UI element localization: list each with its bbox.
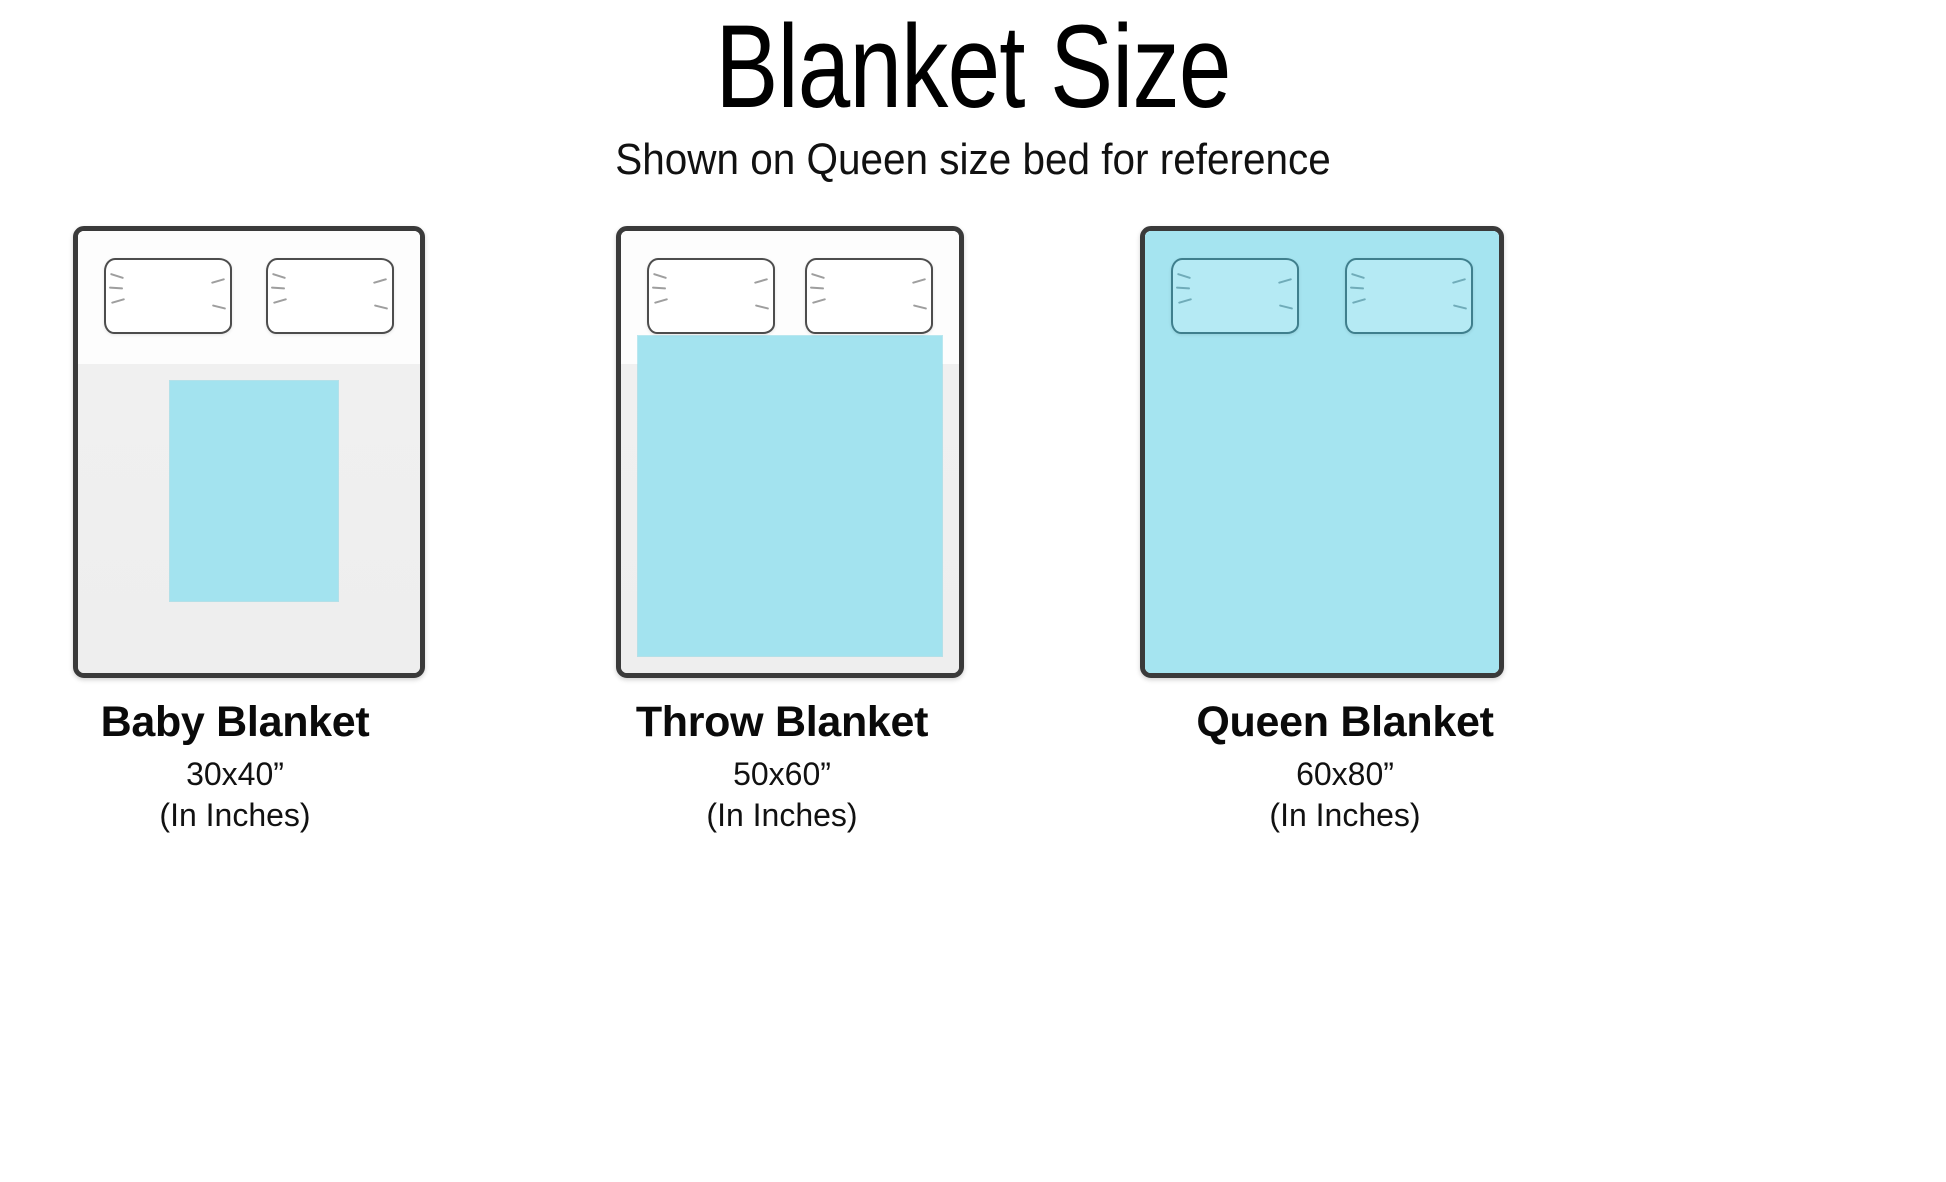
blanket-unit-throw: (In Inches) <box>522 795 1042 836</box>
pillow-right-icon <box>1345 258 1473 334</box>
pillow-left-icon <box>1171 258 1299 334</box>
blanket-size-baby: 30x40” <box>0 754 495 795</box>
label-group-baby: Baby Blanket 30x40” (In Inches) <box>0 700 495 836</box>
bed-diagrams-row <box>0 222 1946 702</box>
blanket-name-throw: Throw Blanket <box>522 700 1042 745</box>
bed-frame <box>616 226 964 678</box>
blanket-overlay-throw <box>638 336 942 656</box>
bed-diagram-queen <box>1118 222 1558 702</box>
bed-frame <box>1140 226 1504 678</box>
blanket-name-queen: Queen Blanket <box>1085 700 1605 745</box>
bed-frame <box>73 226 425 678</box>
pillow-right-icon <box>266 258 394 334</box>
bed-labels-row: Baby Blanket 30x40” (In Inches) Throw Bl… <box>0 700 1946 900</box>
pillow-left-icon <box>104 258 232 334</box>
blanket-overlay-baby <box>170 381 338 601</box>
blanket-size-infographic: Blanket Size Shown on Queen size bed for… <box>0 0 1946 1182</box>
pillow-left-icon <box>647 258 775 334</box>
blanket-size-queen: 60x80” <box>1085 754 1605 795</box>
bed-diagram-throw <box>578 222 1018 702</box>
pillow-right-icon <box>805 258 933 334</box>
blanket-size-throw: 50x60” <box>522 754 1042 795</box>
page-title: Blanket Size <box>195 8 1752 126</box>
blanket-unit-queen: (In Inches) <box>1085 795 1605 836</box>
label-group-throw: Throw Blanket 50x60” (In Inches) <box>522 700 1042 836</box>
page-subtitle: Shown on Queen size bed for reference <box>78 138 1868 182</box>
blanket-unit-baby: (In Inches) <box>0 795 495 836</box>
bed-diagram-baby <box>18 222 458 702</box>
label-group-queen: Queen Blanket 60x80” (In Inches) <box>1085 700 1605 836</box>
blanket-name-baby: Baby Blanket <box>0 700 495 745</box>
